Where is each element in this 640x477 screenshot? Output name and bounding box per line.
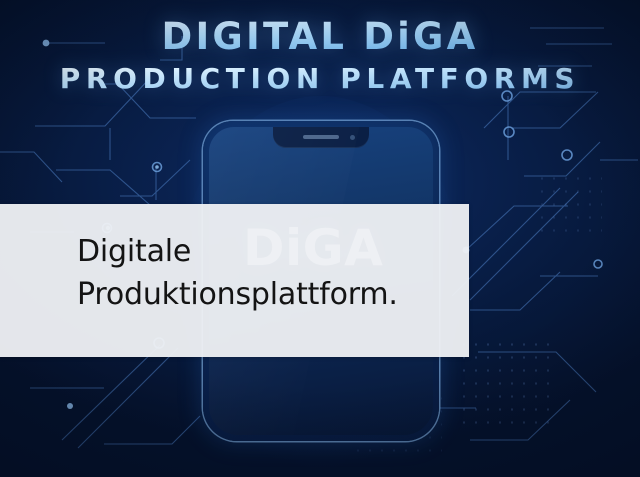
heading-primary: DIGITAL DiGA xyxy=(0,18,640,55)
heading-secondary: PRODUCTION PLATFORMS xyxy=(0,65,640,93)
dot-grid-pattern xyxy=(458,338,550,434)
phone-camera-icon xyxy=(350,135,355,140)
overlay-headline: Digitale Produktionsplattform. xyxy=(77,231,467,317)
dot-grid-pattern-upper xyxy=(536,172,602,232)
phone-notch xyxy=(273,127,369,148)
phone-speaker xyxy=(303,135,339,139)
banner-heading: DIGITAL DiGA PRODUCTION PLATFORMS xyxy=(0,18,640,93)
overlay-text-panel: Digitale Produktionsplattform. xyxy=(0,204,469,357)
banner-image: DIGITAL DiGA PRODUCTION PLATFORMS DiGA D… xyxy=(0,0,640,477)
